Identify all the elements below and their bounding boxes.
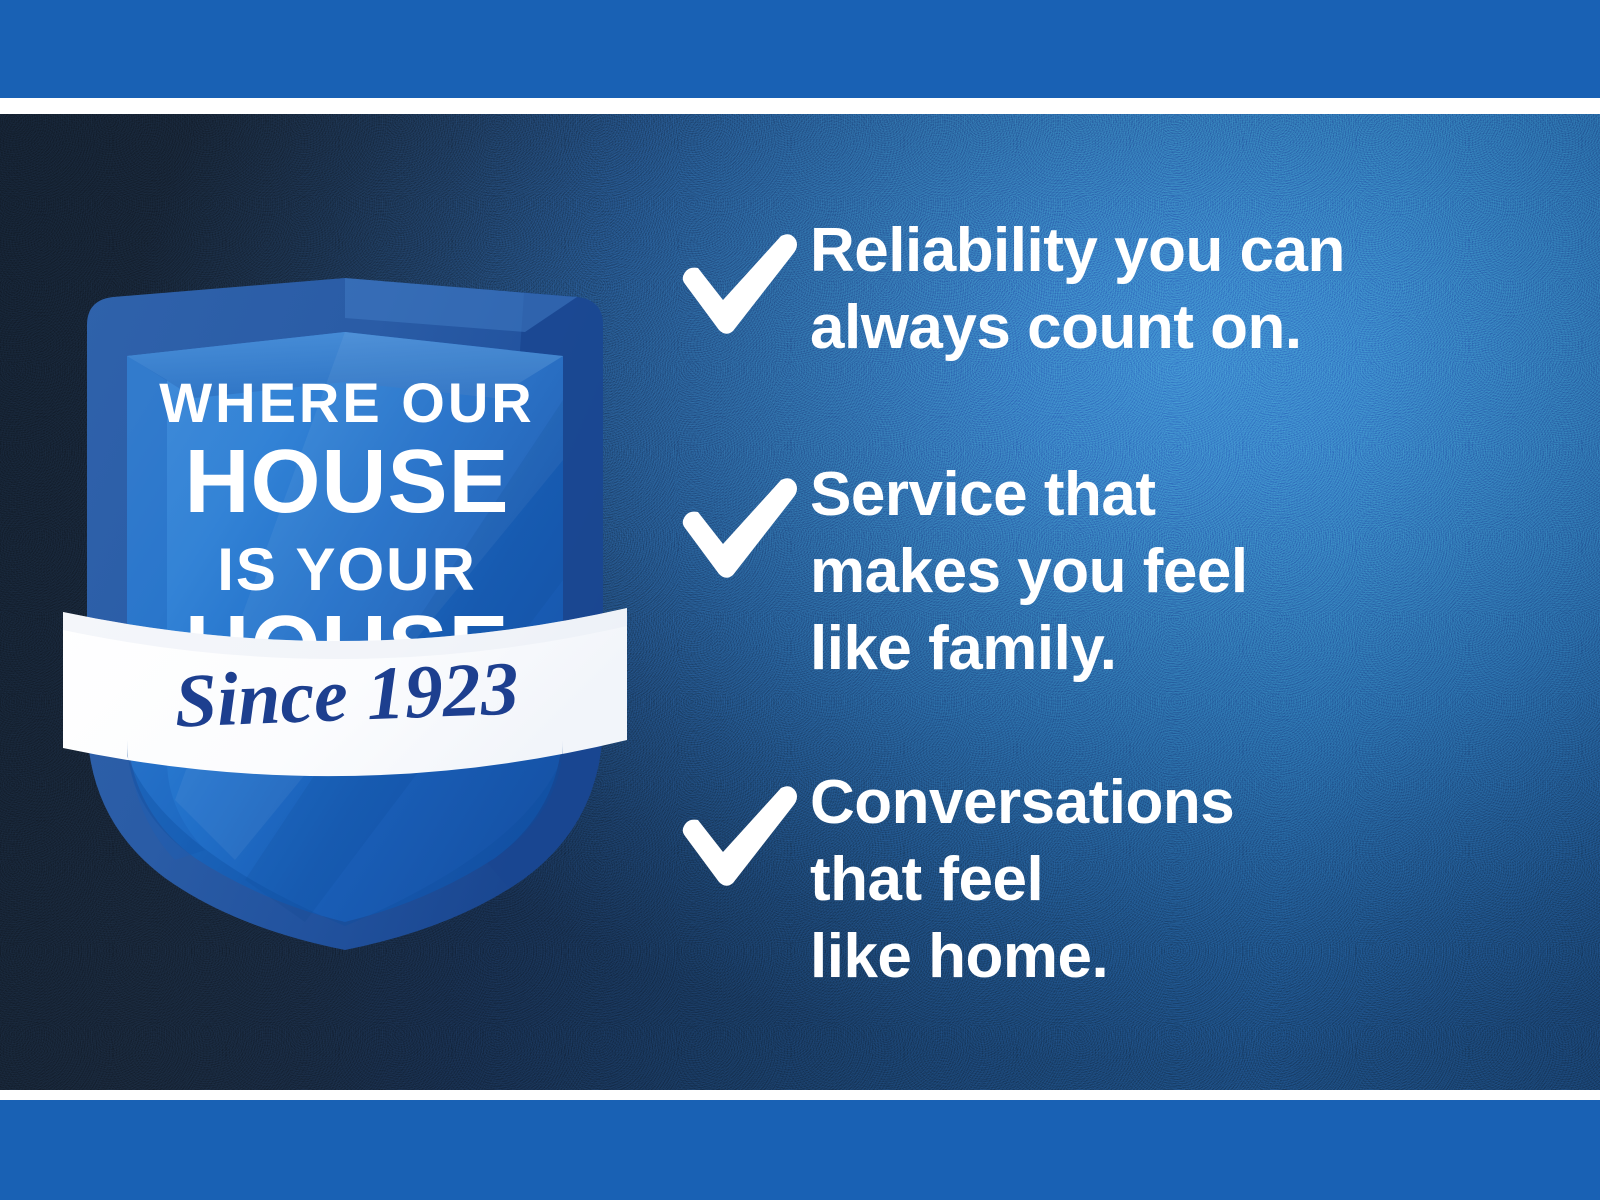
shield-line-2: HOUSE	[184, 432, 509, 532]
bottom-brand-bar	[0, 1100, 1600, 1200]
checkmark-icon	[660, 218, 810, 338]
checkmark-icon	[660, 462, 810, 582]
shield-line-1: WHERE OUR	[159, 371, 534, 434]
checkmark-icon	[660, 770, 810, 890]
checklist-item-text: Reliability you can always count on.	[810, 210, 1345, 366]
checklist-item: Reliability you can always count on.	[660, 210, 1345, 366]
shield-logo: WHERE OUR HOUSE IS YOUR HOUSE Since 1923	[55, 160, 635, 950]
checklist-item: Conversations that feel like home.	[660, 762, 1234, 995]
shield-line-3: IS YOUR	[217, 536, 477, 603]
top-brand-bar	[0, 0, 1600, 98]
benefits-checklist: Reliability you can always count on. Ser…	[660, 114, 1560, 1090]
since-label: Since 1923	[173, 646, 520, 743]
promo-poster: WHERE OUR HOUSE IS YOUR HOUSE Since 1923	[0, 0, 1600, 1200]
checklist-item-text: Service that makes you feel like family.	[810, 454, 1248, 687]
checklist-item: Service that makes you feel like family.	[660, 454, 1248, 687]
top-white-divider	[0, 98, 1600, 114]
bottom-white-divider	[0, 1090, 1600, 1100]
checklist-item-text: Conversations that feel like home.	[810, 762, 1234, 995]
